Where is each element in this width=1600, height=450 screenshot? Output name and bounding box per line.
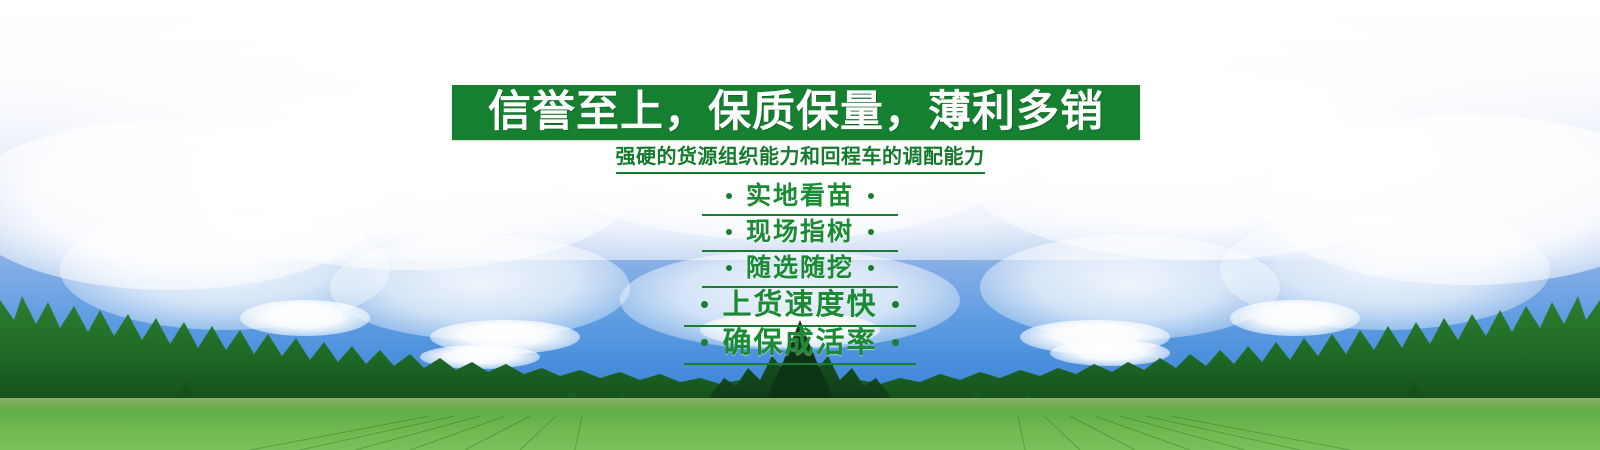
subtitle-text: 强硬的货源组织能力和回程车的调配能力	[616, 146, 985, 174]
feature-item: 上货速度快	[0, 290, 1600, 328]
text-overlay: 信誉至上，保质保量，薄利多销 强硬的货源组织能力和回程车的调配能力 实地看苗 现…	[0, 0, 1600, 450]
bullet-dot-icon	[726, 265, 732, 271]
feature-group: 实地看苗	[702, 184, 898, 216]
feature-item: 确保成活率	[0, 328, 1600, 366]
bullet-dot-icon	[892, 301, 899, 308]
bullet-dot-icon	[726, 229, 732, 235]
feature-label: 现场指树	[746, 220, 854, 245]
feature-item: 现场指树	[0, 218, 1600, 254]
feature-item: 实地看苗	[0, 182, 1600, 218]
bullet-dot-icon	[701, 301, 708, 308]
feature-group: 上货速度快	[684, 291, 916, 327]
bullet-dot-icon	[701, 339, 708, 346]
feature-group: 确保成活率	[684, 329, 916, 365]
bullet-dot-icon	[726, 193, 732, 199]
bullet-dot-icon	[868, 193, 874, 199]
feature-label: 实地看苗	[746, 184, 854, 209]
bullet-dot-icon	[892, 339, 899, 346]
bullet-dot-icon	[868, 229, 874, 235]
subtitle-row: 强硬的货源组织能力和回程车的调配能力	[0, 146, 1600, 174]
feature-item: 随选随挖	[0, 254, 1600, 290]
headline-banner: 信誉至上，保质保量，薄利多销	[452, 85, 1140, 140]
headline-text: 信誉至上，保质保量，薄利多销	[488, 91, 1104, 134]
feature-label: 确保成活率	[722, 329, 877, 358]
promotional-banner: 信誉至上，保质保量，薄利多销 强硬的货源组织能力和回程车的调配能力 实地看苗 现…	[0, 0, 1600, 450]
feature-label: 随选随挖	[746, 256, 854, 281]
feature-label: 上货速度快	[722, 291, 877, 320]
bullet-dot-icon	[868, 265, 874, 271]
feature-group: 现场指树	[702, 220, 898, 252]
feature-list: 实地看苗 现场指树 随选随挖	[0, 182, 1600, 366]
feature-group: 随选随挖	[702, 256, 898, 288]
